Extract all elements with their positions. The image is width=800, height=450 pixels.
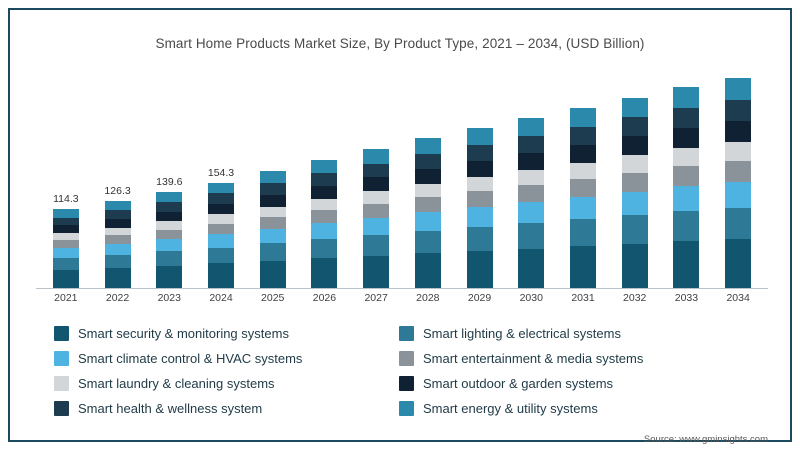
bar-segment — [622, 215, 648, 244]
bar-segment — [415, 212, 441, 231]
bar-segment — [725, 78, 751, 100]
bar-segment — [518, 223, 544, 248]
bar-segment — [105, 210, 131, 219]
bar-segment — [518, 170, 544, 185]
chart-legend: Smart security & monitoring systemsSmart… — [54, 326, 754, 426]
bar-segment — [673, 166, 699, 186]
chart-title: Smart Home Products Market Size, By Prod… — [10, 36, 790, 51]
chart-frame: Smart Home Products Market Size, By Prod… — [8, 8, 792, 442]
bar-segment — [311, 186, 337, 199]
legend-item[interactable]: Smart climate control & HVAC systems — [54, 351, 302, 366]
bar-segment — [363, 177, 389, 191]
bar-segment — [673, 211, 699, 241]
bar-segment — [363, 256, 389, 288]
x-axis-tick-label: 2031 — [563, 292, 603, 304]
bar-segment — [622, 244, 648, 288]
legend-swatch-icon — [399, 401, 414, 416]
bar-segment — [53, 225, 79, 233]
bar-segment — [622, 98, 648, 118]
bar-segment — [105, 244, 131, 255]
legend-label: Smart energy & utility systems — [423, 401, 598, 416]
bar-segment — [260, 243, 286, 261]
bar-segment — [53, 270, 79, 288]
bar-segment — [725, 121, 751, 142]
bar-segment — [622, 136, 648, 155]
bar-segment — [622, 173, 648, 192]
bar-segment — [570, 108, 596, 127]
bar-segment — [467, 161, 493, 177]
bar-segment — [570, 145, 596, 163]
bar-value-label: 126.3 — [104, 185, 130, 197]
bar-segment — [208, 263, 234, 288]
bar-segment — [105, 255, 131, 268]
bar-segment — [518, 136, 544, 153]
bar-segment — [518, 118, 544, 136]
x-axis-tick-label: 2025 — [253, 292, 293, 304]
bar-segment — [260, 261, 286, 288]
x-axis-tick-label: 2030 — [511, 292, 551, 304]
bar-segment — [311, 173, 337, 186]
legend-label: Smart security & monitoring systems — [78, 326, 289, 341]
bar-segment — [518, 185, 544, 202]
x-axis-line — [36, 288, 768, 289]
bar-segment — [53, 209, 79, 217]
bar-segment — [156, 221, 182, 230]
bar-segment — [673, 128, 699, 148]
bar-segment — [311, 239, 337, 258]
bar-segment — [208, 248, 234, 264]
bar-segment — [415, 138, 441, 154]
legend-item[interactable]: Smart energy & utility systems — [399, 401, 598, 416]
x-axis-tick-label: 2021 — [46, 292, 86, 304]
bar-column: 114.3 — [53, 209, 79, 288]
bar-segment — [673, 87, 699, 108]
bar-segment — [622, 155, 648, 172]
bar-segment — [415, 154, 441, 169]
bar-segment — [105, 235, 131, 244]
bar-segment — [725, 208, 751, 239]
bar-segment — [622, 117, 648, 136]
legend-label: Smart entertainment & media systems — [423, 351, 643, 366]
bar-segment — [105, 219, 131, 228]
bar-segment — [725, 182, 751, 208]
bar-segment — [260, 171, 286, 183]
bar-segment — [260, 229, 286, 244]
bar-segment — [53, 248, 79, 258]
bar-segment — [53, 218, 79, 226]
bar-segment — [105, 228, 131, 236]
bar-segment — [260, 217, 286, 229]
bar-segment — [105, 268, 131, 288]
bar-segment — [105, 201, 131, 210]
bar-segment — [208, 193, 234, 204]
legend-label: Smart laundry & cleaning systems — [78, 376, 275, 391]
legend-item[interactable]: Smart laundry & cleaning systems — [54, 376, 275, 391]
bar-column: 154.3 — [208, 183, 234, 288]
bar-segment — [156, 251, 182, 265]
legend-swatch-icon — [399, 326, 414, 341]
bar-segment — [363, 191, 389, 204]
bar-segment — [208, 214, 234, 224]
x-axis-tick-label: 2023 — [149, 292, 189, 304]
x-axis-tick-label: 2024 — [201, 292, 241, 304]
x-axis-labels: 2021202220232024202520262027202820292030… — [40, 292, 764, 310]
bar-segment — [415, 197, 441, 212]
bar-segment — [53, 240, 79, 248]
bar-segment — [53, 258, 79, 270]
bar-segment — [467, 207, 493, 227]
legend-label: Smart climate control & HVAC systems — [78, 351, 302, 366]
x-axis-tick-label: 2033 — [666, 292, 706, 304]
bar-segment — [467, 227, 493, 251]
legend-item[interactable]: Smart security & monitoring systems — [54, 326, 289, 341]
bar-segment — [725, 239, 751, 288]
legend-label: Smart lighting & electrical systems — [423, 326, 621, 341]
bar-value-label: 154.3 — [208, 167, 234, 179]
bar-segment — [53, 233, 79, 240]
bar-column — [467, 128, 493, 288]
legend-swatch-icon — [399, 351, 414, 366]
bar-segment — [467, 128, 493, 145]
bar-segment — [260, 195, 286, 207]
bar-segment — [311, 223, 337, 239]
bar-segment — [725, 100, 751, 121]
bar-segment — [260, 207, 286, 218]
x-axis-tick-label: 2028 — [408, 292, 448, 304]
bar-column: 139.6 — [156, 192, 182, 288]
legend-swatch-icon — [399, 376, 414, 391]
x-axis-tick-label: 2032 — [615, 292, 655, 304]
x-axis-tick-label: 2022 — [98, 292, 138, 304]
bar-segment — [363, 149, 389, 163]
bar-segment — [260, 183, 286, 195]
bar-segment — [363, 218, 389, 235]
bar-column — [673, 87, 699, 288]
bar-segment — [156, 230, 182, 240]
bar-segment — [622, 192, 648, 216]
bar-segment — [208, 204, 234, 215]
bar-segment — [467, 177, 493, 191]
bar-segment — [570, 246, 596, 288]
x-axis-tick-label: 2029 — [460, 292, 500, 304]
bar-value-label: 139.6 — [156, 176, 182, 188]
bar-segment — [311, 258, 337, 288]
bar-column — [725, 78, 751, 288]
source-note: Source: www.gminsights.com — [644, 434, 768, 445]
bar-segment — [363, 235, 389, 256]
bar-segment — [673, 108, 699, 128]
bar-segment — [208, 234, 234, 247]
bar-segment — [208, 224, 234, 235]
bar-segment — [518, 202, 544, 223]
bar-segment — [156, 266, 182, 288]
bar-segment — [311, 199, 337, 210]
bar-segment — [570, 219, 596, 246]
bar-segment — [518, 249, 544, 288]
stacked-bar-plot: 114.3126.3139.6154.3 — [40, 72, 764, 288]
bar-segment — [570, 197, 596, 219]
x-axis-tick-label: 2027 — [356, 292, 396, 304]
bar-column — [415, 138, 441, 288]
x-axis-tick-label: 2034 — [718, 292, 758, 304]
legend-label: Smart health & wellness system — [78, 401, 262, 416]
bar-segment — [467, 251, 493, 288]
bar-segment — [467, 191, 493, 207]
bar-segment — [570, 127, 596, 145]
bar-segment — [673, 186, 699, 211]
bar-segment — [415, 184, 441, 197]
bar-segment — [570, 179, 596, 197]
legend-item[interactable]: Smart entertainment & media systems — [399, 351, 643, 366]
bar-column: 126.3 — [105, 201, 131, 288]
legend-swatch-icon — [54, 351, 69, 366]
bar-column — [311, 160, 337, 288]
bar-segment — [415, 253, 441, 288]
bar-segment — [467, 145, 493, 161]
x-axis-tick-label: 2026 — [304, 292, 344, 304]
bar-segment — [156, 212, 182, 222]
legend-label: Smart outdoor & garden systems — [423, 376, 613, 391]
bar-segment — [363, 164, 389, 178]
bar-segment — [156, 202, 182, 212]
bar-segment — [673, 148, 699, 166]
legend-item[interactable]: Smart health & wellness system — [54, 401, 262, 416]
legend-swatch-icon — [54, 401, 69, 416]
bar-column — [363, 149, 389, 288]
bar-segment — [208, 183, 234, 193]
bar-column — [622, 98, 648, 288]
bar-column — [260, 171, 286, 288]
bar-segment — [725, 161, 751, 182]
bar-column — [518, 118, 544, 288]
legend-item[interactable]: Smart lighting & electrical systems — [399, 326, 621, 341]
bar-value-label: 114.3 — [53, 193, 79, 205]
bar-segment — [518, 153, 544, 170]
bar-segment — [415, 169, 441, 184]
bar-segment — [156, 192, 182, 202]
bar-segment — [673, 241, 699, 288]
bar-segment — [156, 239, 182, 251]
legend-item[interactable]: Smart outdoor & garden systems — [399, 376, 613, 391]
bar-column — [570, 108, 596, 288]
legend-swatch-icon — [54, 326, 69, 341]
bar-segment — [363, 204, 389, 218]
bar-segment — [725, 142, 751, 161]
legend-swatch-icon — [54, 376, 69, 391]
bar-segment — [415, 231, 441, 253]
bar-segment — [311, 210, 337, 223]
bar-segment — [570, 163, 596, 179]
bar-segment — [311, 160, 337, 173]
